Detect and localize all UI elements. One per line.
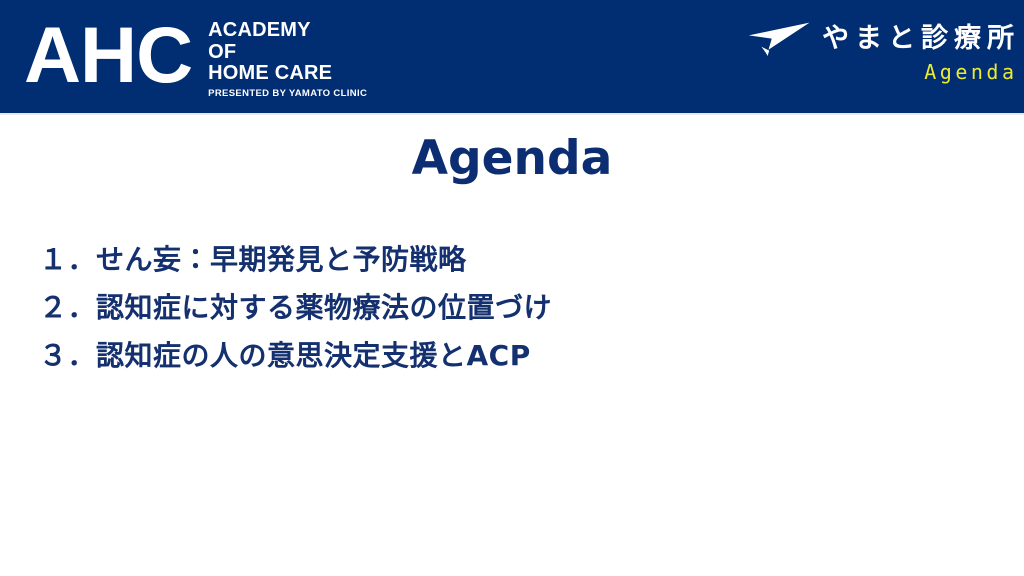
ahc-word-home-care: HOME CARE bbox=[208, 63, 367, 85]
ahc-acronym-logo: AHC bbox=[24, 12, 192, 98]
agenda-list: １．せん妄：早期発見と予防戦略 ２．認知症に対する薬物療法の位置づけ ３．認知症… bbox=[39, 236, 959, 380]
agenda-item-3: ３．認知症の人の意思決定支援とACP bbox=[39, 332, 959, 380]
ahc-brand-wordmark: ACADEMY OF HOME CARE PRESENTED BY YAMATO… bbox=[208, 20, 367, 99]
agenda-item-2: ２．認知症に対する薬物療法の位置づけ bbox=[39, 284, 959, 332]
ahc-brand-lockup: AHC ACADEMY OF HOME CARE PRESENTED BY YA… bbox=[24, 12, 367, 99]
header-bar: AHC ACADEMY OF HOME CARE PRESENTED BY YA… bbox=[0, 0, 1024, 113]
clinic-lockup: やまと診療所 Agenda bbox=[748, 22, 1014, 85]
ahc-presented-by-text: PRESENTED BY YAMATO CLINIC bbox=[208, 88, 367, 99]
header-section-label: Agenda bbox=[924, 60, 1017, 85]
clinic-name-row: やまと診療所 bbox=[748, 22, 1014, 56]
ahc-word-of: OF bbox=[208, 42, 367, 64]
clinic-name-text: やまと診療所 bbox=[822, 23, 1020, 55]
header-divider-rule bbox=[0, 113, 1024, 115]
agenda-item-1: １．せん妄：早期発見と予防戦略 bbox=[39, 236, 959, 284]
ahc-word-academy: ACADEMY bbox=[208, 20, 367, 42]
swoosh-paper-plane-icon bbox=[748, 22, 810, 56]
page-title: Agenda bbox=[0, 130, 1024, 188]
